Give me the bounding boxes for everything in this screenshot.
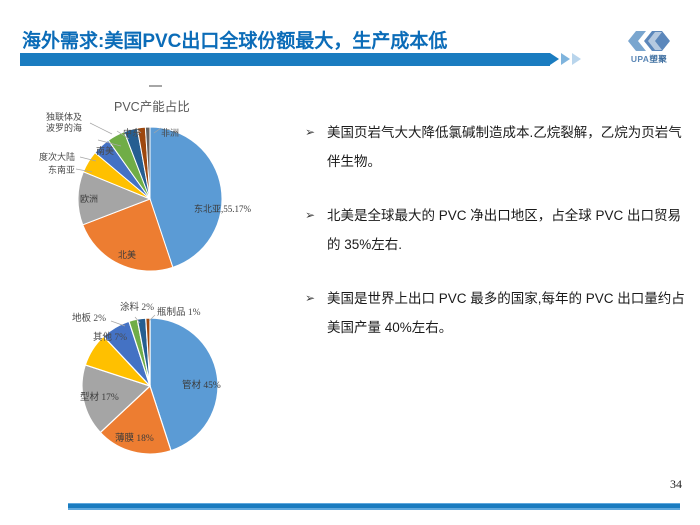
bullet-item-3: ➢ 美国是世界上出口 PVC 最多的国家,每年的 PVC 出口量约占美国产量 4…	[305, 284, 685, 342]
pie1-label-duliantibaluodihai: 独联体及 波罗的海	[46, 112, 82, 133]
bullet-text-3: 美国是世界上出口 PVC 最多的国家,每年的 PVC 出口量约占美国产量 40%…	[327, 284, 685, 342]
chevron-right-icon-2	[561, 53, 570, 65]
slide-canvas: 海外需求:美国PVC出口全球份额最大，生产成本低 UPA塑聚 PVC产能占比	[0, 0, 700, 525]
logo-latin-text: UPA	[631, 54, 650, 64]
bullet-item-2: ➢ 北美是全球最大的 PVC 净出口地区，占全球 PVC 出口贸易的 35%左右…	[305, 201, 685, 259]
chart-pvc-consumption-by-application: 管材 45% 薄膜 18% 型材 17% 其他 7% 地板 2% 涂料 2% 瓶…	[18, 286, 290, 476]
pie2-label-baomo: 薄膜 18%	[115, 434, 154, 444]
pie2-label-xingcai: 型材 17%	[80, 393, 119, 403]
bullet-item-1: ➢ 美国页岩气大大降低氯碱制造成本.乙烷裂解，乙烷为页岩气伴生物。	[305, 118, 685, 176]
pie1-label-ouzhou: 欧洲	[80, 194, 98, 204]
page-title: 海外需求:美国PVC出口全球份额最大，生产成本低	[22, 26, 447, 53]
header-accent-bar	[20, 53, 550, 66]
pie1-label-dongbeiya: 东北亚,55.17%	[194, 204, 251, 214]
page-number: 34	[670, 477, 682, 492]
pie1-label-beimei: 北美	[118, 250, 136, 260]
pie1-label-duliantibaluodihai-line1: 独联体及	[46, 112, 82, 122]
pie1-label-duliantibaluodihai-line2: 波罗的海	[46, 123, 82, 133]
pie1-label-zhongdong: 中东	[123, 128, 141, 138]
chart-pvc-capacity-share: PVC产能占比	[18, 84, 290, 274]
pie2-label-guancai: 管材 45%	[182, 381, 221, 391]
pie2-label-diban: 地板 2%	[72, 314, 106, 324]
logo-cjk-text: 塑聚	[649, 54, 667, 64]
logo-arrows-icon	[626, 28, 672, 52]
pie1-label-dongnanya: 东南亚	[48, 165, 75, 175]
pie-chart-2-graphic	[18, 286, 290, 476]
pie2-label-tuliao: 涂料 2%	[120, 303, 154, 313]
brand-logo: UPA塑聚	[612, 28, 686, 70]
pie2-label-pingzhipin: 瓶制品 1%	[157, 308, 201, 318]
pie1-label-ducidalu: 度次大陆	[39, 152, 75, 162]
chevron-right-icon-1	[550, 53, 559, 65]
bullet-text-1: 美国页岩气大大降低氯碱制造成本.乙烷裂解，乙烷为页岩气伴生物。	[327, 118, 685, 176]
bullet-text-2: 北美是全球最大的 PVC 净出口地区，占全球 PVC 出口贸易的 35%左右.	[327, 201, 685, 259]
footer-accent-bar-inner	[68, 504, 680, 508]
bullet-arrow-icon-3: ➢	[305, 284, 315, 313]
bullet-arrow-icon-2: ➢	[305, 201, 315, 230]
bullet-list: ➢ 美国页岩气大大降低氯碱制造成本.乙烷裂解，乙烷为页岩气伴生物。 ➢ 北美是全…	[305, 118, 685, 367]
pie1-label-nanmei: 南美	[96, 146, 114, 156]
logo-wordmark: UPA塑聚	[612, 53, 686, 65]
pie2-label-qita: 其他 7%	[93, 333, 127, 343]
chevron-right-icon-3	[572, 53, 581, 65]
pie1-label-feizhou: 非洲	[161, 128, 179, 138]
bullet-arrow-icon-1: ➢	[305, 118, 315, 147]
